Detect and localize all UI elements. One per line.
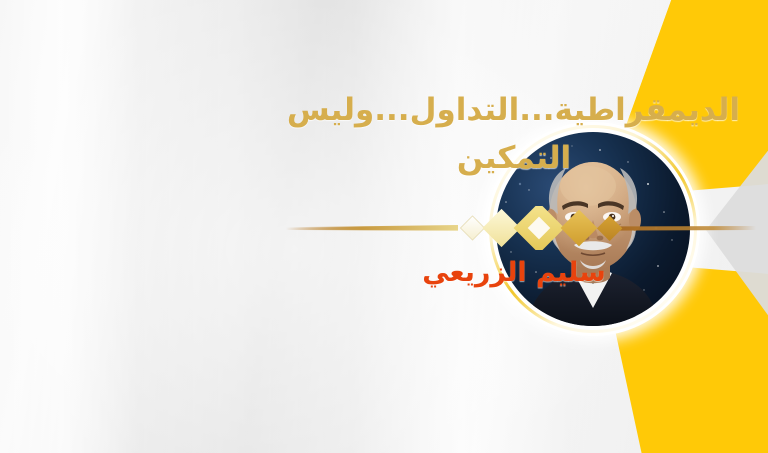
article-banner: الديمقراطية...التداول...وليس التمكين [0,0,768,453]
headline-line-2: التمكين [288,134,740,182]
author-name: سليم الزريعي [288,257,740,288]
page-title: الديمقراطية...التداول...وليس التمكين [288,86,740,182]
diamond-divider [286,206,756,250]
headline-line-1: الديمقراطية...التداول...وليس [287,92,740,128]
